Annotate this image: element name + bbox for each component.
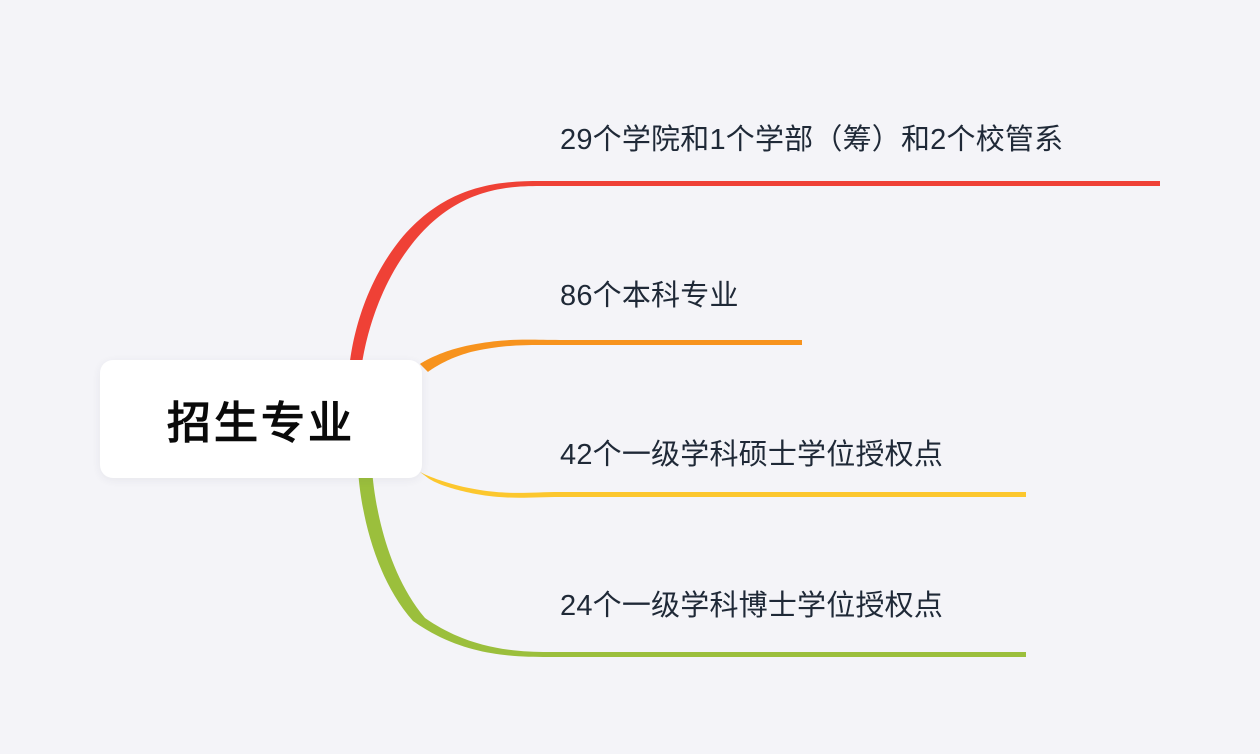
branch-label-undergrad[interactable]: 86个本科专业: [560, 278, 739, 314]
branch-curve-undergrad: [420, 340, 802, 372]
root-node-label: 招生专业: [167, 387, 355, 451]
branch-label-doctor[interactable]: 24个一级学科博士学位授权点: [560, 588, 943, 624]
branch-label-master[interactable]: 42个一级学科硕士学位授权点: [560, 437, 943, 473]
branch-curve-master: [420, 472, 1026, 498]
branch-label-colleges[interactable]: 29个学院和1个学部（筹）和2个校管系: [560, 122, 1063, 158]
root-node[interactable]: 招生专业: [100, 360, 422, 478]
mindmap-canvas: 招生专业 29个学院和1个学部（筹）和2个校管系 86个本科专业 42个一级学科…: [0, 0, 1260, 754]
